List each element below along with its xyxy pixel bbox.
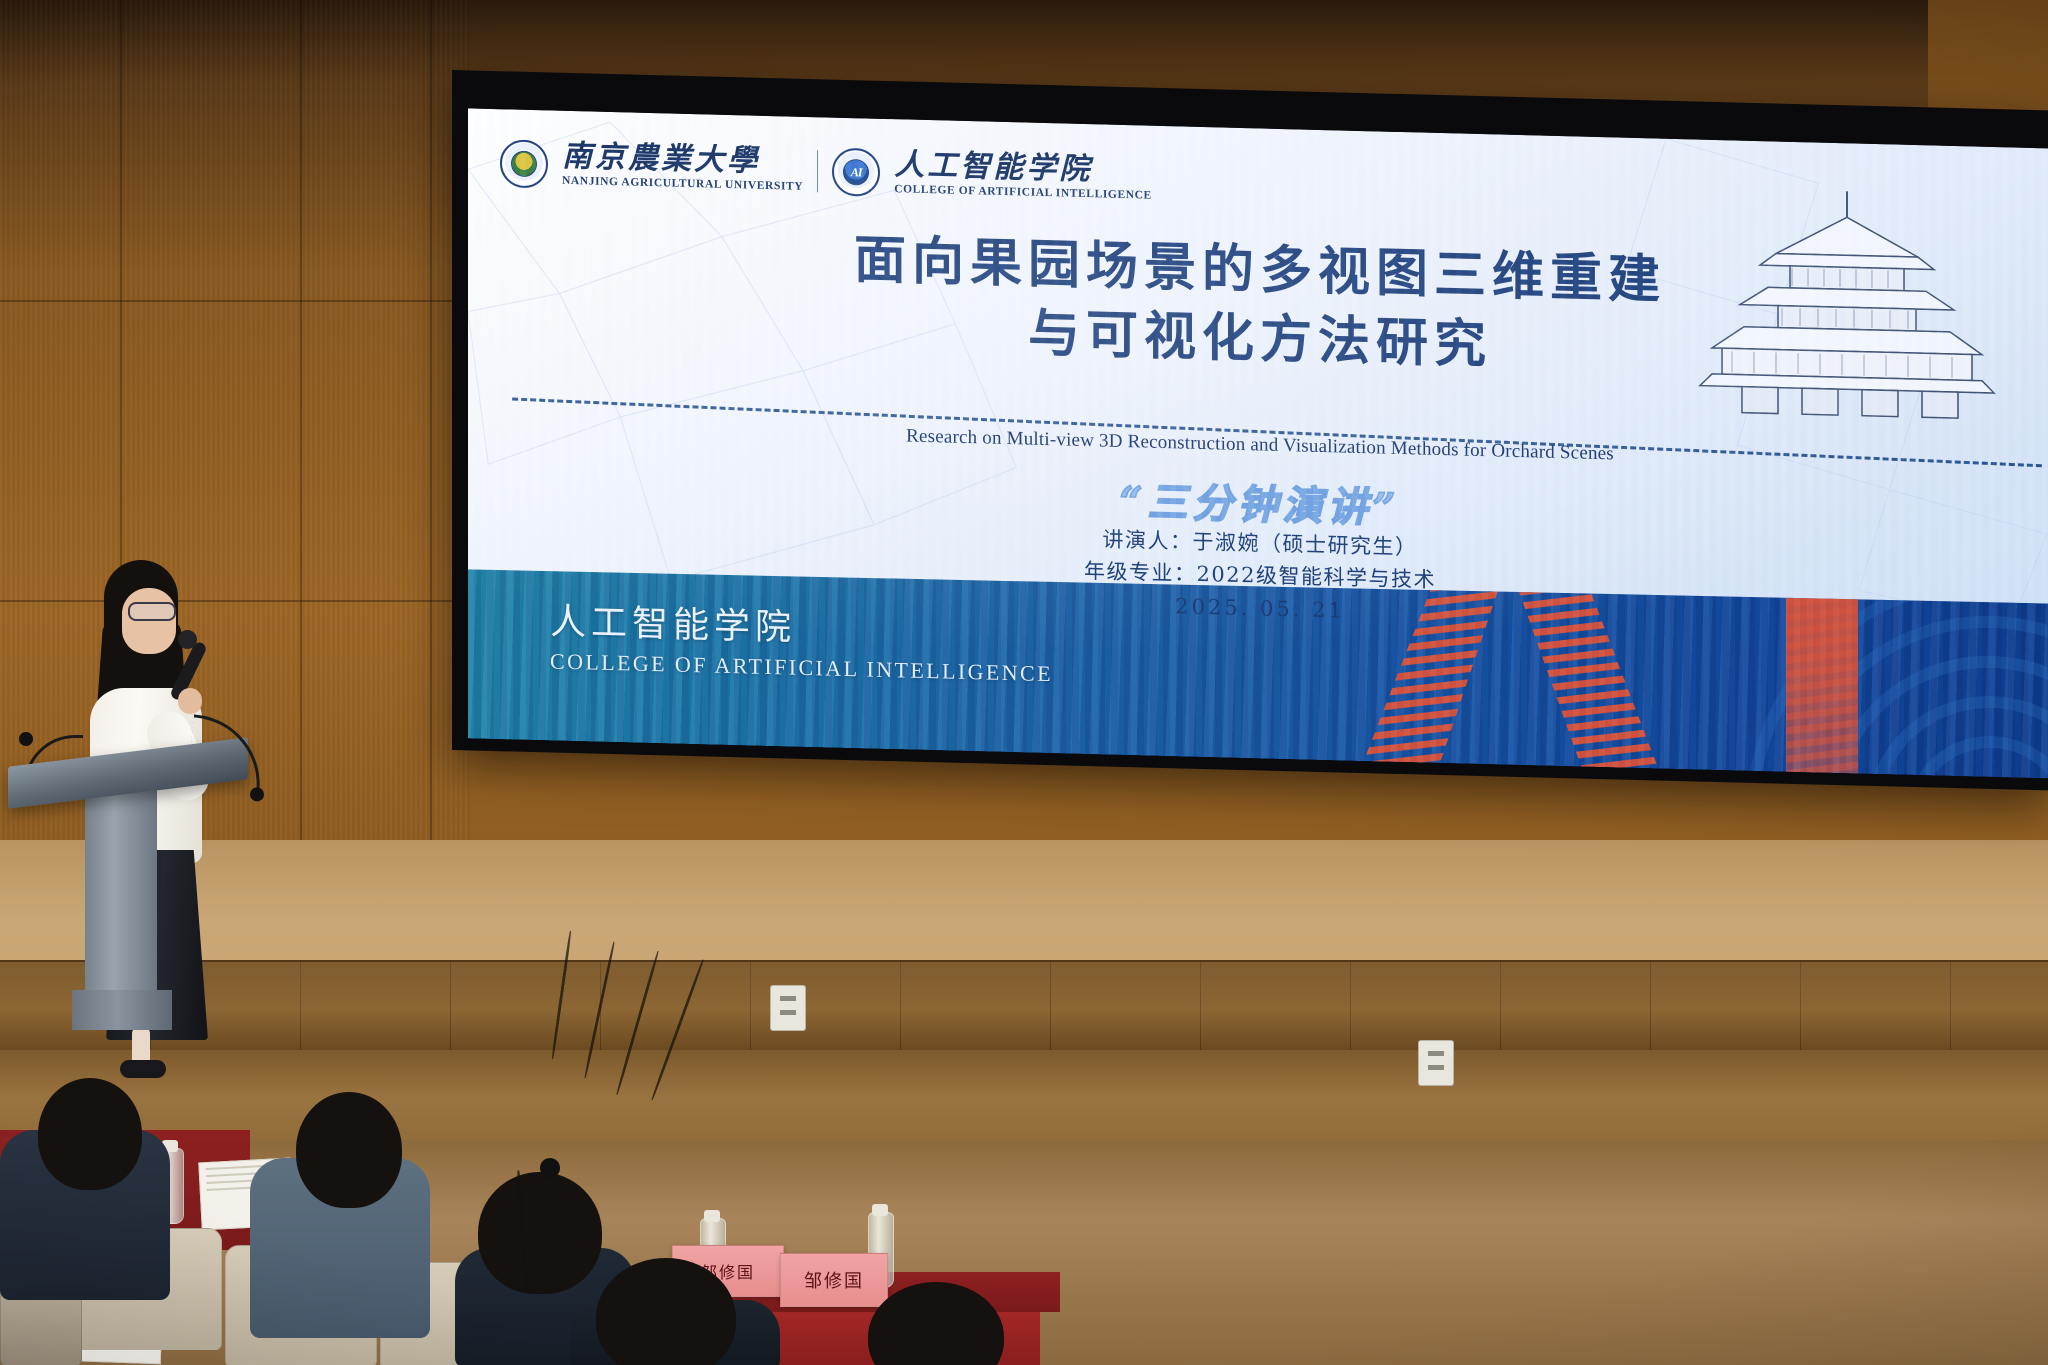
podium-base — [72, 990, 172, 1030]
wall-seam — [0, 600, 452, 602]
audience-head — [478, 1172, 602, 1294]
wall-seam — [430, 0, 432, 880]
audience-head — [38, 1078, 142, 1190]
college-of-artificial-intelligence-crest-icon: AI — [832, 148, 880, 197]
podium-column — [85, 780, 157, 1010]
college-name-cn: 人工智能学院 — [894, 150, 1152, 187]
eyeglasses-icon — [128, 602, 176, 621]
wall-outlet — [1418, 1040, 1454, 1086]
slide-upper-panel: 南京農業大學 NANJING AGRICULTURAL UNIVERSITY A… — [468, 108, 2048, 618]
wall-seam — [300, 0, 302, 860]
name-card: 邹修国 — [780, 1253, 888, 1307]
stage-riser-panels — [0, 960, 2048, 1057]
wall-seam — [0, 300, 452, 302]
projection-screen-frame: 南京農業大學 NANJING AGRICULTURAL UNIVERSITY A… — [452, 70, 2048, 791]
lecture-hall-photo: 南京農業大學 NANJING AGRICULTURAL UNIVERSITY A… — [0, 0, 2048, 1365]
microphone-head-icon — [540, 1158, 560, 1178]
wall-outlet — [770, 985, 806, 1031]
presentation-slide: 南京農業大學 NANJING AGRICULTURAL UNIVERSITY A… — [468, 108, 2048, 778]
name-card-text: 邹修国 — [804, 1267, 864, 1293]
bottle-cap — [704, 1210, 720, 1222]
university-logo-text: 南京農業大學 NANJING AGRICULTURAL UNIVERSITY — [562, 142, 803, 194]
bottle-cap — [872, 1204, 888, 1216]
nanjing-agricultural-university-crest-icon — [500, 139, 548, 188]
audience-head — [296, 1092, 402, 1208]
projection-screen: 南京農業大學 NANJING AGRICULTURAL UNIVERSITY A… — [468, 108, 2048, 778]
ai-monogram: AI — [843, 159, 869, 186]
logo-divider — [817, 150, 818, 192]
college-logo-text: 人工智能学院 COLLEGE OF ARTIFICIAL INTELLIGENC… — [894, 150, 1152, 202]
university-name-cn: 南京農業大學 — [562, 142, 803, 178]
